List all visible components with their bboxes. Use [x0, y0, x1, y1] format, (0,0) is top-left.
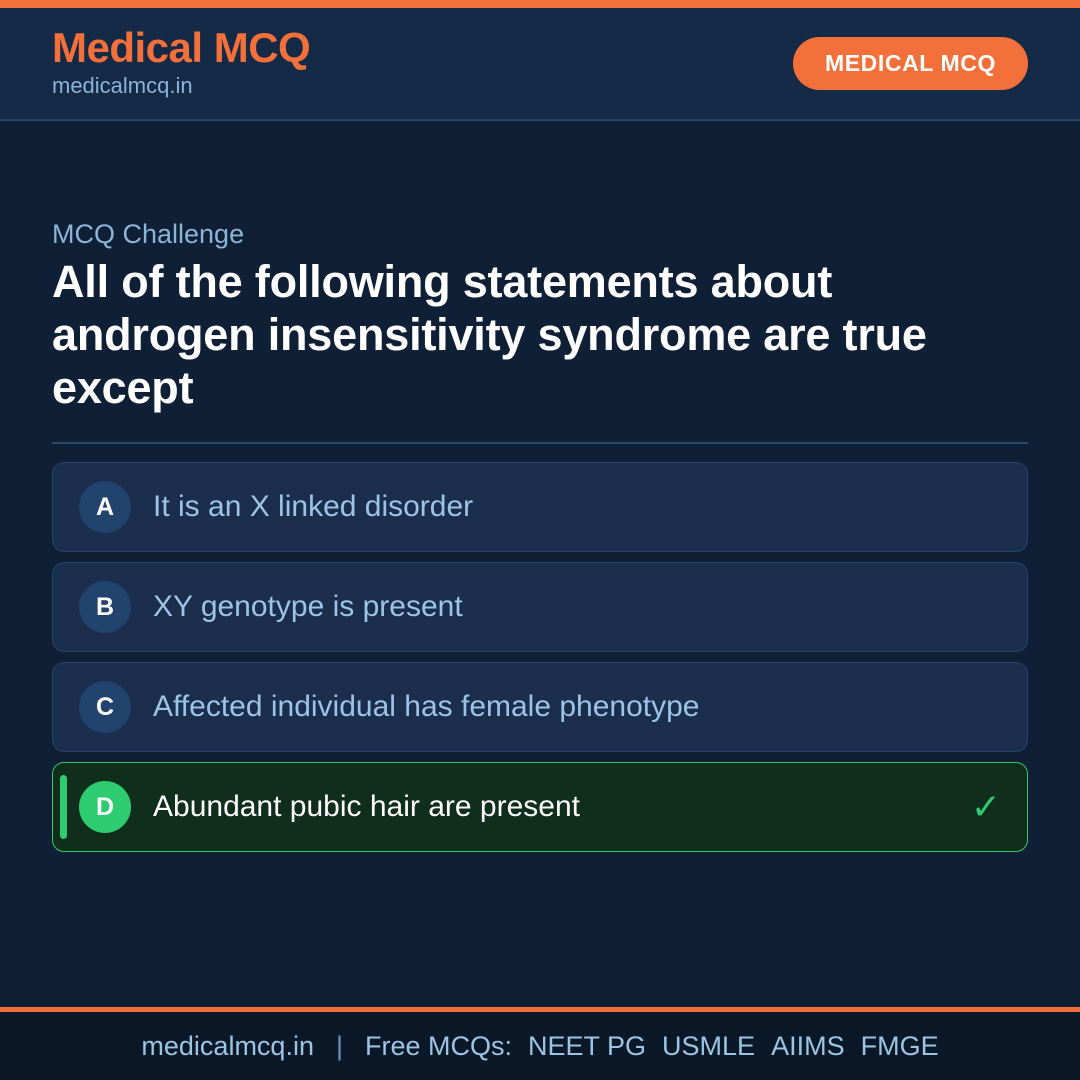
brand-title: Medical MCQ	[52, 26, 310, 70]
option-a[interactable]: A It is an X linked disorder ✓	[52, 462, 1028, 552]
brand-subtitle: medicalmcq.in	[52, 72, 310, 101]
correct-accent-bar	[60, 775, 67, 839]
footer-site[interactable]: medicalmcq.in	[141, 1031, 314, 1062]
check-icon: ✓	[971, 789, 1001, 825]
option-b[interactable]: B XY genotype is present ✓	[52, 562, 1028, 652]
option-text: XY genotype is present	[153, 589, 463, 625]
option-text: Affected individual has female phenotype	[153, 689, 700, 725]
question-divider	[52, 442, 1028, 444]
option-letter-badge: B	[79, 581, 131, 633]
option-text: It is an X linked disorder	[153, 489, 473, 525]
option-letter-badge: C	[79, 681, 131, 733]
kicker-label: MCQ Challenge	[52, 218, 1028, 250]
content-wrap: MCQ Challenge All of the following state…	[52, 218, 1028, 852]
footer-separator: |	[328, 1031, 351, 1062]
header: Medical MCQ medicalmcq.in MEDICAL MCQ	[0, 8, 1080, 121]
option-letter-badge: D	[79, 781, 131, 833]
footer-exam-neetpg[interactable]: NEET PG	[526, 1031, 646, 1062]
footer-exam-usmle[interactable]: USMLE	[660, 1031, 755, 1062]
top-accent-bar	[0, 0, 1080, 8]
mcq-card: Medical MCQ medicalmcq.in MEDICAL MCQ MC…	[0, 0, 1080, 1080]
options-list: A It is an X linked disorder ✓ B XY geno…	[52, 462, 1028, 852]
main-content: MCQ Challenge All of the following state…	[0, 121, 1080, 1007]
option-c[interactable]: C Affected individual has female phenoty…	[52, 662, 1028, 752]
footer-inner: medicalmcq.in | Free MCQs: NEET PG USMLE…	[141, 1031, 938, 1062]
question-text: All of the following statements about an…	[52, 256, 1028, 414]
footer-label: Free MCQs:	[365, 1031, 512, 1062]
footer-exam-aiims[interactable]: AIIMS	[769, 1031, 845, 1062]
option-letter-badge: A	[79, 481, 131, 533]
footer: medicalmcq.in | Free MCQs: NEET PG USMLE…	[0, 1012, 1080, 1080]
brand-block: Medical MCQ medicalmcq.in	[52, 26, 310, 101]
option-text: Abundant pubic hair are present	[153, 789, 580, 825]
footer-exam-fmge[interactable]: FMGE	[859, 1031, 939, 1062]
header-badge: MEDICAL MCQ	[793, 37, 1028, 90]
option-d[interactable]: D Abundant pubic hair are present ✓	[52, 762, 1028, 852]
